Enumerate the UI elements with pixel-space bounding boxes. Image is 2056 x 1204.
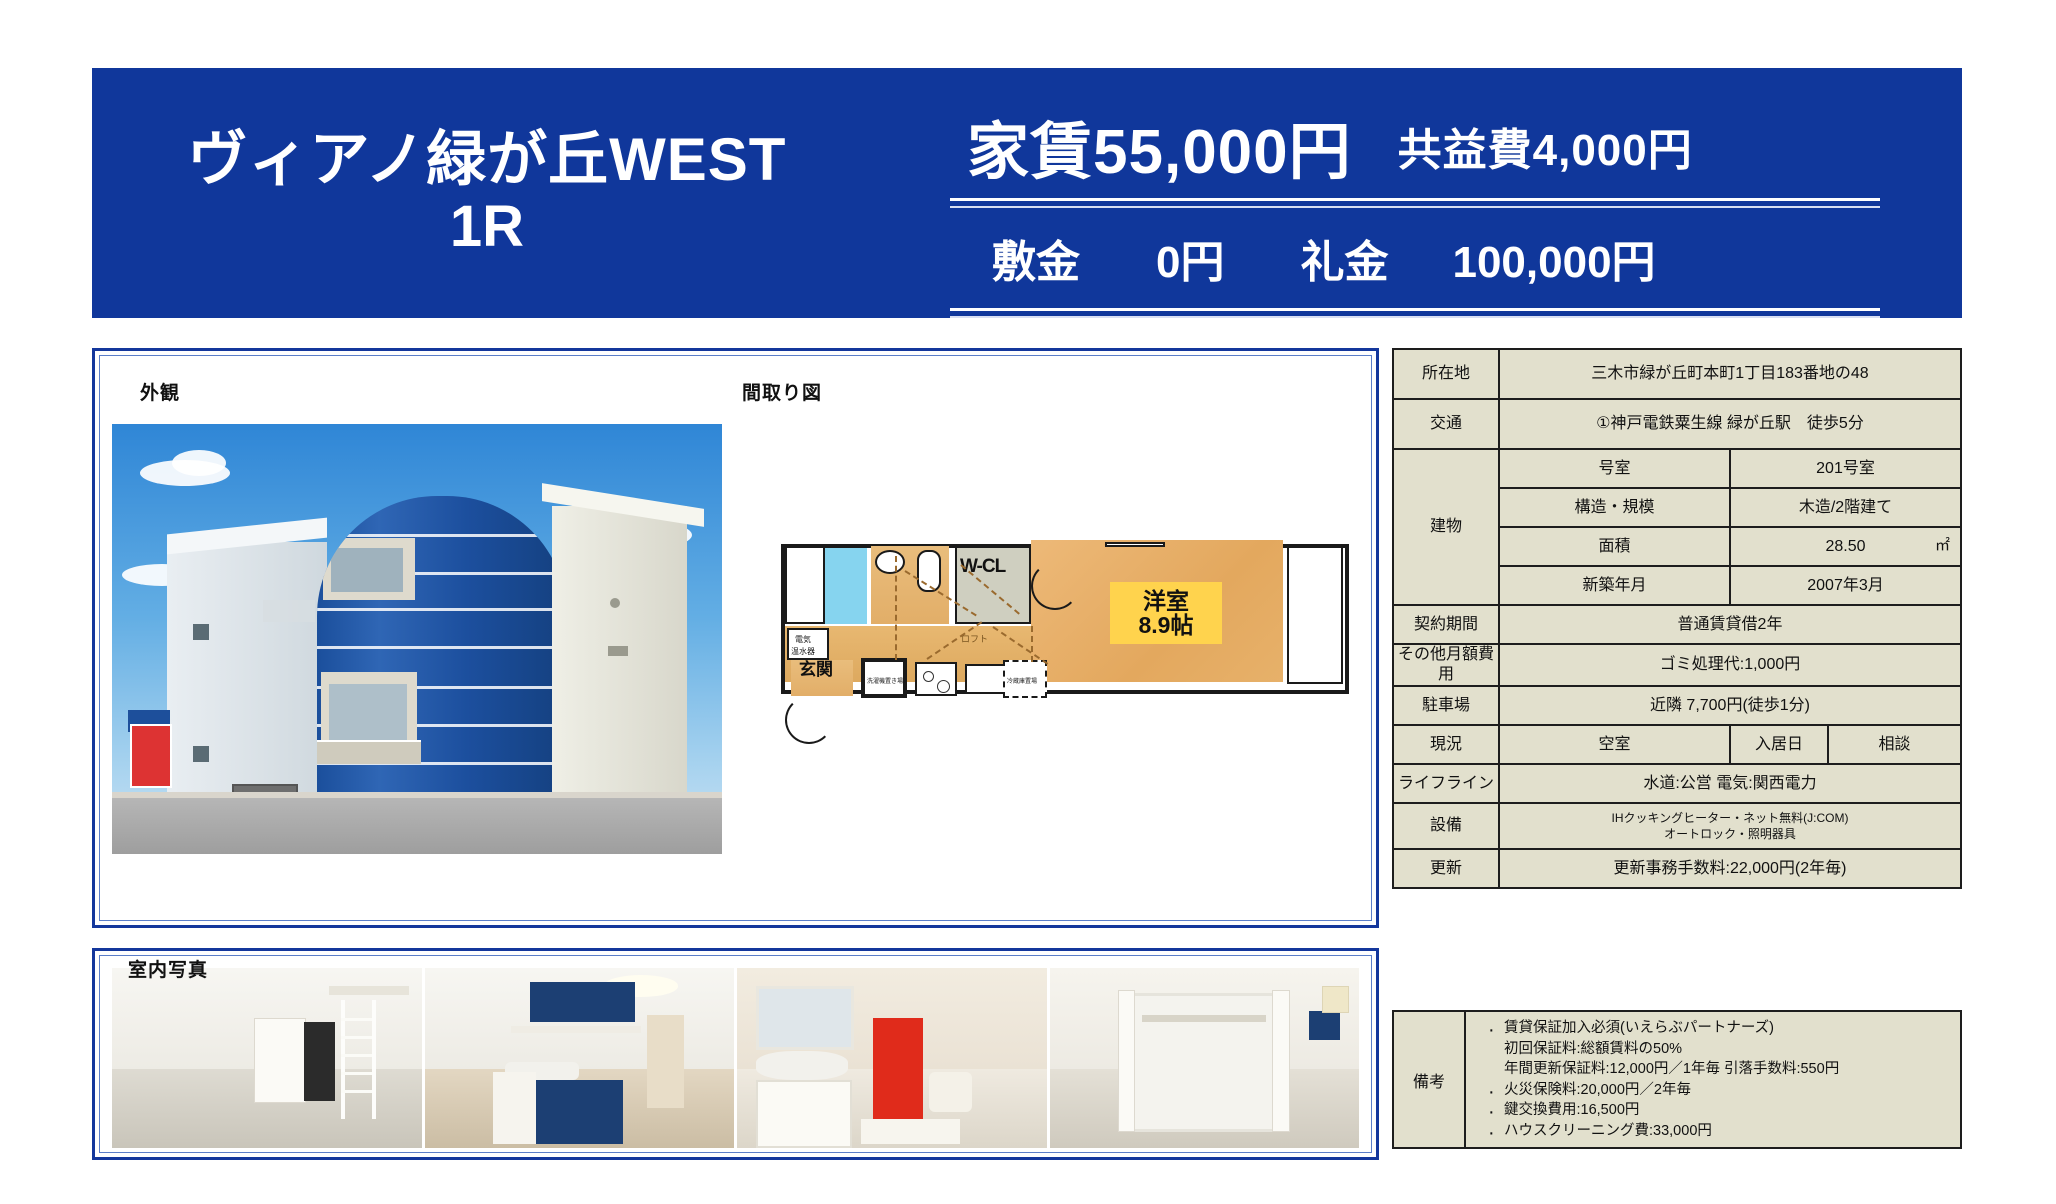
remark-item: 初回保証料:総額賃料の50% xyxy=(1486,1039,1956,1060)
room-size-badge: 洋室 8.9帖 xyxy=(1110,582,1222,644)
interior-section-label: 室内写真 xyxy=(128,955,208,982)
walk-in-closet-label: W-CL xyxy=(960,556,1005,578)
row-key-othermonthly: その他月額費用 xyxy=(1393,644,1499,686)
table-row-parking: 駐車場 近隣 7,700円(徒歩1分) xyxy=(1393,686,1961,725)
window xyxy=(1105,542,1165,547)
balcony-area xyxy=(1287,546,1343,684)
table-row-access: 交通 ①神戸電鉄粟生線 緑が丘駅 徒歩5分 xyxy=(1393,399,1961,449)
header-banner: ヴィアノ緑が丘WEST 1R 家賃55,000円 共益費4,000円 敷金 0円… xyxy=(92,68,1962,318)
room-size: 8.9帖 xyxy=(1139,613,1194,637)
washer-label: 洗濯機置き場 xyxy=(867,676,903,685)
deposit-row: 敷金 0円 礼金 100,000円 xyxy=(892,218,1932,298)
entrance-label: 玄関 xyxy=(799,655,833,680)
sub-value-structure: 木造/2階建て xyxy=(1730,488,1961,527)
washbasin xyxy=(875,550,905,574)
row-key-movein: 入居日 xyxy=(1731,726,1829,763)
row-key-contract: 契約期間 xyxy=(1393,605,1499,644)
table-row-unit: 建物 号室 201号室 xyxy=(1393,449,1961,488)
row-key-renewal: 更新 xyxy=(1393,849,1499,888)
floorplan-drawing: 洋室 8.9帖 W-CL 電気 温水器 玄関 xyxy=(775,540,1355,745)
rent-amount: 家賃55,000円 xyxy=(967,101,1352,191)
exterior-section-label: 外観 xyxy=(140,378,180,405)
cloud xyxy=(172,450,226,476)
table-row-lifeline: ライフライン 水道:公営 電気:関西電力 xyxy=(1393,764,1961,803)
stove xyxy=(915,662,957,696)
row-value-othermonthly: ゴミ処理代:1,000円 xyxy=(1499,644,1961,686)
movein-cell: 入居日 相談 xyxy=(1730,725,1961,764)
row-value-movein: 相談 xyxy=(1829,726,1960,763)
row-value-equipment: IHクッキングヒーター・ネット無料(J:COM) オートロック・照明器具 xyxy=(1499,803,1961,849)
row-value-parking: 近隣 7,700円(徒歩1分) xyxy=(1499,686,1961,725)
remark-item: 年間更新保証料:12,000円／1年毎 引落手数料:550円 xyxy=(1486,1059,1956,1080)
table-row-othermonthly: その他月額費用 ゴミ処理代:1,000円 xyxy=(1393,644,1961,686)
area-unit: ㎡ xyxy=(1935,537,1950,556)
interior-photo-room xyxy=(112,968,422,1148)
washer-space: 洗濯機置き場 xyxy=(861,658,907,698)
exterior-photo xyxy=(112,424,722,854)
row-value-lifeline: 水道:公営 電気:関西電力 xyxy=(1499,764,1961,803)
sub-value-unit: 201号室 xyxy=(1730,449,1961,488)
key-money-label: 礼金 xyxy=(1300,226,1388,290)
table-row-status: 現況 空室 入居日 相談 xyxy=(1393,725,1961,764)
remark-item: 火災保険料:20,000円／2年毎 xyxy=(1486,1080,1956,1101)
row-value-renewal: 更新事務手数料:22,000円(2年毎) xyxy=(1499,849,1961,888)
equipment-line-2: オートロック・照明器具 xyxy=(1504,826,1956,842)
interior-photo-bathroom xyxy=(737,968,1047,1148)
remark-item: 賃貸保証加入必須(いえらぶパートナーズ) xyxy=(1486,1018,1956,1039)
remarks-table: 備考 賃貸保証加入必須(いえらぶパートナーズ) 初回保証料:総額賃料の50% 年… xyxy=(1392,1010,1962,1149)
door-swing-arc xyxy=(1031,562,1079,610)
interior-photo-kitchen xyxy=(425,968,735,1148)
layout-type: 1R xyxy=(450,195,524,259)
row-value-address: 三木市緑が丘町本町1丁目183番地の48 xyxy=(1499,349,1961,399)
property-name: ヴィアノ緑が丘WEST xyxy=(188,128,787,191)
row-value-status: 空室 xyxy=(1499,725,1730,764)
sub-key-area: 面積 xyxy=(1499,527,1730,566)
row-value-contract: 普通賃貸借2年 xyxy=(1499,605,1961,644)
row-value-access: ①神戸電鉄粟生線 緑が丘駅 徒歩5分 xyxy=(1499,399,1961,449)
table-row-address: 所在地 三木市緑が丘町本町1丁目183番地の48 xyxy=(1393,349,1961,399)
room-name: 洋室 xyxy=(1143,589,1189,613)
property-details-table: 所在地 三木市緑が丘町本町1丁目183番地の48 交通 ①神戸電鉄粟生線 緑が丘… xyxy=(1392,348,1962,889)
property-title-block: ヴィアノ緑が丘WEST 1R xyxy=(92,68,882,318)
divider-top xyxy=(950,198,1880,208)
price-block: 家賃55,000円 共益費4,000円 敷金 0円 礼金 100,000円 xyxy=(892,68,1962,318)
rent-row: 家賃55,000円 共益費4,000円 xyxy=(892,102,1932,190)
divider-bottom xyxy=(950,308,1880,318)
remark-item: ハウスクリーニング費:33,000円 xyxy=(1486,1121,1956,1142)
neighbor-building-right xyxy=(552,506,687,836)
row-key-access: 交通 xyxy=(1393,399,1499,449)
sign-red xyxy=(130,724,172,788)
property-flyer: ヴィアノ緑が丘WEST 1R 家賃55,000円 共益費4,000円 敷金 0円… xyxy=(0,0,2056,1204)
table-row-contract: 契約期間 普通賃貸借2年 xyxy=(1393,605,1961,644)
maintenance-fee: 共益費4,000円 xyxy=(1398,114,1693,178)
bath-floor xyxy=(825,548,867,624)
sub-value-builtdate: 2007年3月 xyxy=(1730,566,1961,605)
remarks-row: 備考 賃貸保証加入必須(いえらぶパートナーズ) 初回保証料:総額賃料の50% 年… xyxy=(1393,1011,1961,1148)
floorplan-section-label: 間取り図 xyxy=(742,378,822,405)
road xyxy=(112,798,722,854)
remarks-list-cell: 賃貸保証加入必須(いえらぶパートナーズ) 初回保証料:総額賃料の50% 年間更新… xyxy=(1465,1011,1961,1148)
remarks-key: 備考 xyxy=(1393,1011,1465,1148)
fridge-label: 冷蔵庫置場 xyxy=(1007,676,1037,685)
row-key-lifeline: ライフライン xyxy=(1393,764,1499,803)
sub-key-builtdate: 新築年月 xyxy=(1499,566,1730,605)
remarks-list: 賃貸保証加入必須(いえらぶパートナーズ) 初回保証料:総額賃料の50% 年間更新… xyxy=(1468,1018,1956,1141)
remark-item: 鍵交換費用:16,500円 xyxy=(1486,1100,1956,1121)
deposit-label: 敷金 xyxy=(992,226,1080,290)
fold-line xyxy=(1031,626,1033,662)
row-key-status: 現況 xyxy=(1393,725,1499,764)
row-key-equipment: 設備 xyxy=(1393,803,1499,849)
row-key-parking: 駐車場 xyxy=(1393,686,1499,725)
interior-photo-strip xyxy=(112,968,1359,1148)
key-money-value: 100,000円 xyxy=(1452,226,1655,290)
fridge-space: 冷蔵庫置場 xyxy=(1003,660,1047,698)
area-number: 28.50 xyxy=(1825,537,1865,557)
floorplan-canvas: 洋室 8.9帖 W-CL 電気 温水器 玄関 xyxy=(775,540,1355,745)
sub-key-unit: 号室 xyxy=(1499,449,1730,488)
equipment-line-1: IHクッキングヒーター・ネット無料(J:COM) xyxy=(1504,810,1956,826)
table-row-renewal: 更新 更新事務手数料:22,000円(2年毎) xyxy=(1393,849,1961,888)
sub-value-area: 28.50 ㎡ xyxy=(1730,527,1961,566)
row-key-building: 建物 xyxy=(1393,449,1499,605)
row-key-address: 所在地 xyxy=(1393,349,1499,399)
water-heater-label-1: 電気 xyxy=(795,634,811,645)
deposit-value: 0円 xyxy=(1156,226,1224,290)
table-row-equipment: 設備 IHクッキングヒーター・ネット無料(J:COM) オートロック・照明器具 xyxy=(1393,803,1961,849)
bathtub xyxy=(785,546,825,624)
entry-door-arc xyxy=(785,696,833,744)
sub-key-structure: 構造・規模 xyxy=(1499,488,1730,527)
interior-photo-closet xyxy=(1050,968,1360,1148)
fold-line xyxy=(895,556,897,660)
